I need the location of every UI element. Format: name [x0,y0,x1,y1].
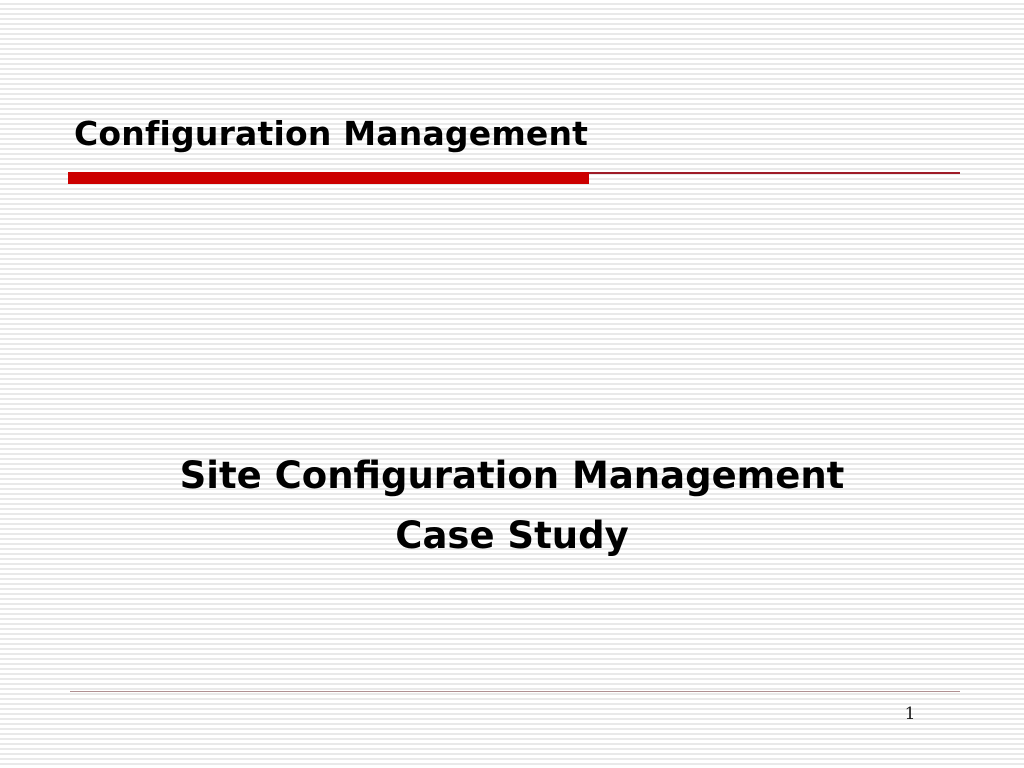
slide-canvas: Configuration Management Site Configurat… [0,0,1024,768]
slide-body-block: Site Configuration Management Case Study [62,446,962,566]
slide-title-block: Configuration Management [68,112,968,156]
body-line-secondary: Case Study [62,506,962,566]
title-underline-group [68,172,960,184]
page-number: 1 [880,703,940,725]
footer-divider [70,691,960,692]
page-title: Configuration Management [68,112,968,156]
body-line-primary: Site Configuration Management [62,446,962,506]
title-accent-bar [68,172,589,184]
